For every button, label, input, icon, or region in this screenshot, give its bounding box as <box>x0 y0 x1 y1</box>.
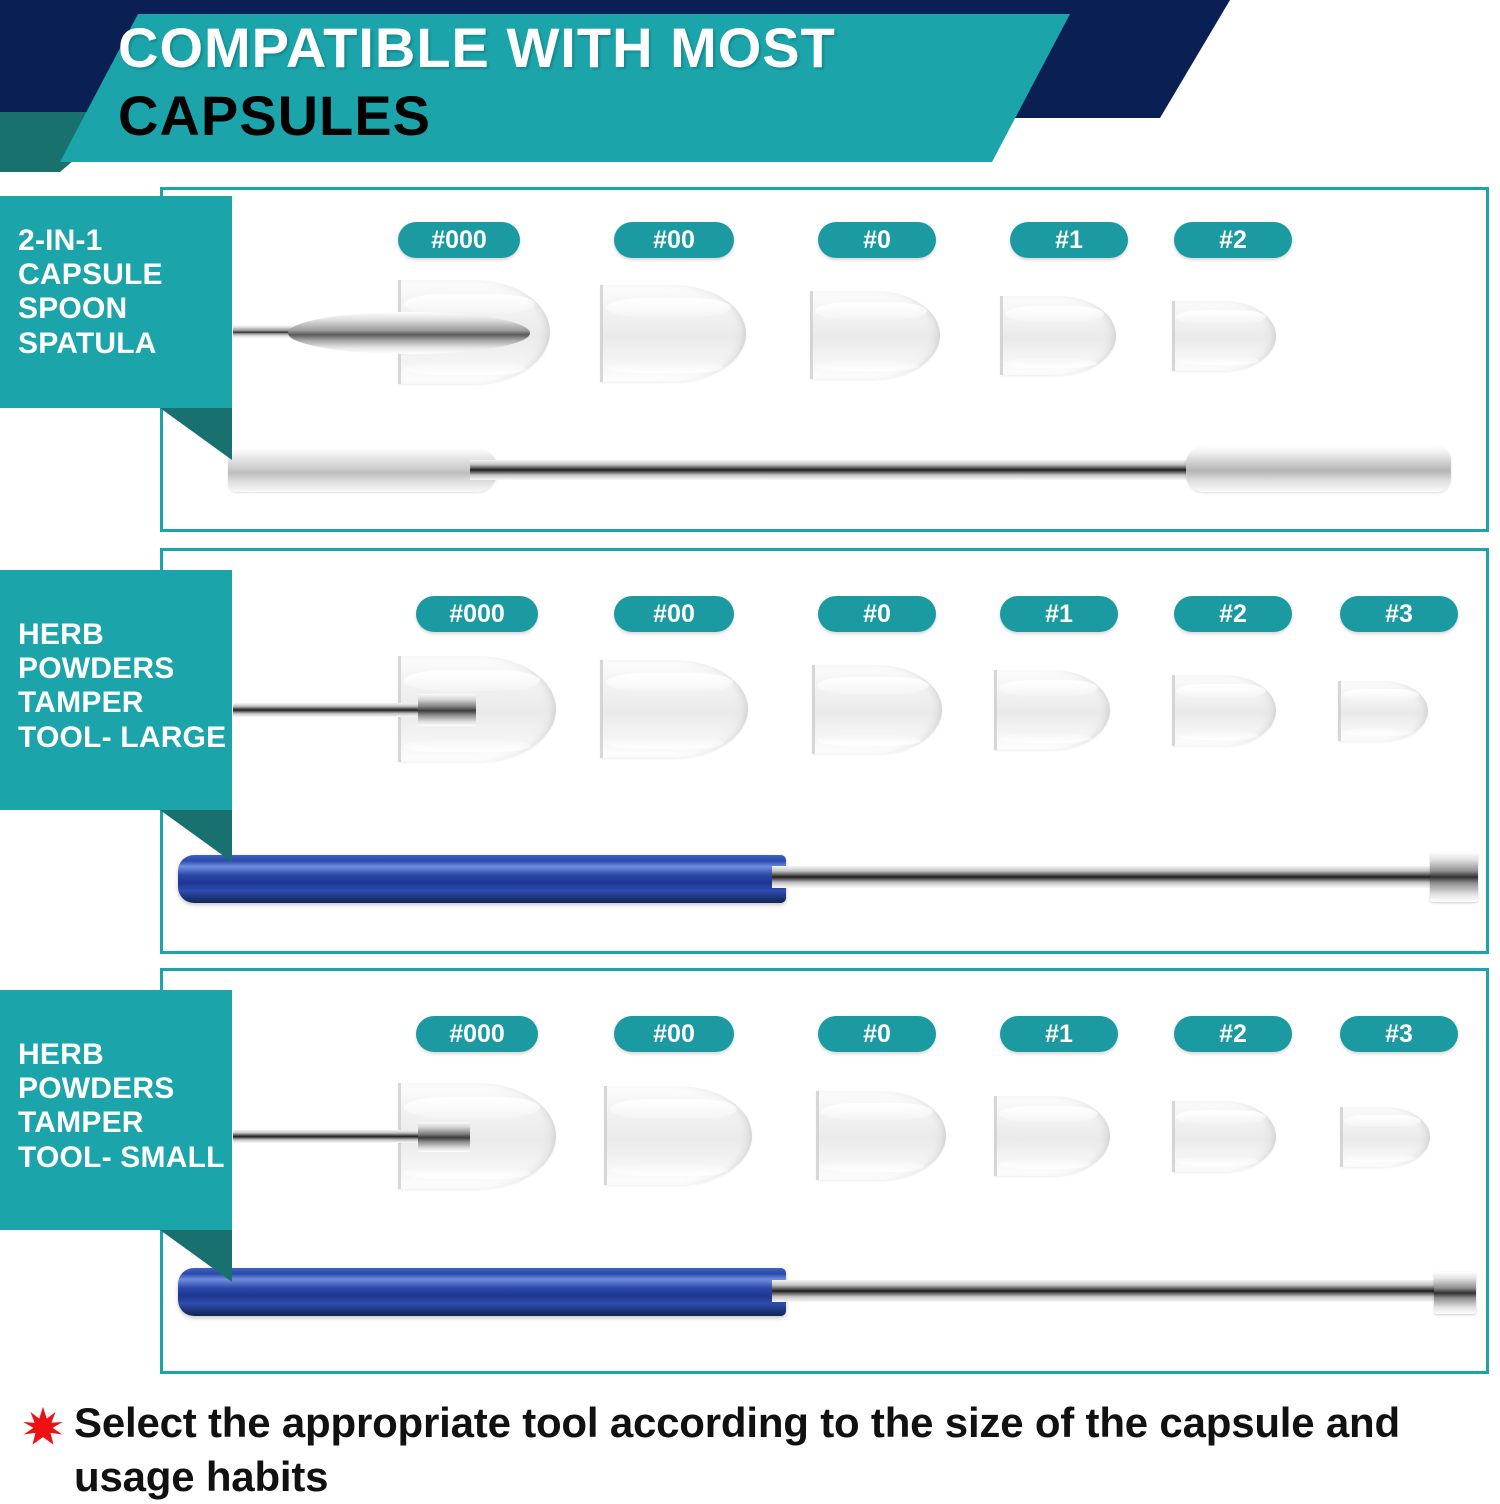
capsule-1-row2 <box>994 670 1110 750</box>
size-pill-3-row3[interactable]: #3 <box>1340 1016 1458 1052</box>
size-pill-label: #3 <box>1385 1020 1413 1049</box>
capsule-open-edge <box>600 285 603 382</box>
size-pill-000-row3[interactable]: #000 <box>416 1016 538 1052</box>
tamper-large-handle <box>178 855 786 903</box>
header-title-line1: COMPATIBLE WITH MOST <box>118 20 836 76</box>
capsule-1-row1 <box>1000 296 1116 375</box>
size-pill-label: #000 <box>431 226 487 255</box>
capsule-00-row2 <box>600 660 748 758</box>
panel-label-spatula: 2-IN-1 CAPSULE SPOON SPATULA <box>0 196 232 408</box>
capsule-0-row2 <box>812 665 942 754</box>
size-pill-00-row2[interactable]: #00 <box>614 596 734 632</box>
tamper-large-probe-shaft <box>233 703 423 717</box>
spatula-scoop-cup <box>1186 446 1451 492</box>
size-pill-label: #3 <box>1385 600 1413 629</box>
panel-label-text: 2-IN-1 CAPSULE SPOON SPATULA <box>18 224 163 361</box>
size-pill-3-row2[interactable]: #3 <box>1340 596 1458 632</box>
header-banner: COMPATIBLE WITH MOST CAPSULES <box>0 0 1500 175</box>
size-pill-label: #2 <box>1219 1020 1247 1049</box>
size-pill-2-row3[interactable]: #2 <box>1174 1016 1292 1052</box>
tamper-small-head-disc <box>1434 1272 1476 1314</box>
capsule-00-row1 <box>600 285 746 382</box>
tamper-small-shaft <box>772 1280 1440 1302</box>
capsule-0-row3 <box>816 1091 946 1180</box>
tamper-large-shaft <box>772 866 1440 888</box>
capsule-open-edge <box>604 1086 607 1185</box>
panel-label-tamper-large: HERB POWDERS TAMPER TOOL- LARGE <box>0 570 232 810</box>
size-pill-label: #1 <box>1055 226 1083 255</box>
tamper-small-probe-head <box>418 1122 470 1152</box>
red-starburst-icon <box>22 1406 64 1448</box>
size-pill-label: #000 <box>449 600 505 629</box>
size-pill-label: #0 <box>863 600 891 629</box>
size-pill-label: #000 <box>449 1020 505 1049</box>
capsule-2-row3 <box>1172 1101 1276 1172</box>
size-pill-00-row1[interactable]: #00 <box>614 222 734 258</box>
size-pill-label: #00 <box>653 600 695 629</box>
tamper-large-head-disc <box>1430 852 1478 902</box>
tamper-small-handle <box>178 1268 786 1316</box>
capsule-open-edge <box>1338 681 1341 741</box>
size-pill-1-row2[interactable]: #1 <box>1000 596 1118 632</box>
size-pill-label: #2 <box>1219 600 1247 629</box>
capsule-2-row2 <box>1172 675 1276 746</box>
size-pill-1-row3[interactable]: #1 <box>1000 1016 1118 1052</box>
capsule-open-edge <box>812 665 815 754</box>
size-pill-1-row1[interactable]: #1 <box>1010 222 1128 258</box>
capsule-open-edge <box>600 660 603 758</box>
spatula-shaft <box>470 460 1220 480</box>
size-pill-00-row3[interactable]: #00 <box>614 1016 734 1052</box>
capsule-open-edge <box>994 1096 997 1176</box>
capsule-3-row2 <box>1338 681 1428 741</box>
size-pill-2-row1[interactable]: #2 <box>1174 222 1292 258</box>
capsule-open-edge <box>1172 301 1175 371</box>
size-pill-000-row2[interactable]: #000 <box>416 596 538 632</box>
size-pill-label: #1 <box>1045 1020 1073 1049</box>
spatula-flat-paddle <box>228 448 498 492</box>
capsule-open-edge <box>1340 1107 1343 1167</box>
size-pill-0-row1[interactable]: #0 <box>818 222 936 258</box>
capsule-open-edge <box>1172 675 1175 746</box>
panel-label-text: HERB POWDERS TAMPER TOOL- LARGE <box>18 618 226 755</box>
size-pill-label: #00 <box>653 1020 695 1049</box>
capsule-00-row3 <box>604 1086 752 1185</box>
capsule-open-edge <box>1000 296 1003 375</box>
size-pill-label: #0 <box>863 1020 891 1049</box>
capsule-0-row1 <box>810 291 940 379</box>
tamper-small-probe-shaft <box>233 1130 423 1143</box>
size-pill-label: #00 <box>653 226 695 255</box>
capsule-open-edge <box>816 1091 819 1180</box>
capsule-3-row3 <box>1340 1107 1430 1167</box>
size-pill-label: #2 <box>1219 226 1247 255</box>
capsule-open-edge <box>1172 1101 1175 1172</box>
size-pill-2-row2[interactable]: #2 <box>1174 596 1292 632</box>
capsule-1-row3 <box>994 1096 1110 1176</box>
capsule-open-edge <box>810 291 813 379</box>
size-pill-0-row2[interactable]: #0 <box>818 596 936 632</box>
spatula-probe-tip <box>288 312 530 354</box>
size-pill-0-row3[interactable]: #0 <box>818 1016 936 1052</box>
infographic-root: COMPATIBLE WITH MOST CAPSULES 2-IN-1 CAP… <box>0 0 1500 1500</box>
capsule-2-row1 <box>1172 301 1276 371</box>
panel-label-tamper-small: HERB POWDERS TAMPER TOOL- SMALL <box>0 990 232 1230</box>
header-title-line2: CAPSULES <box>118 88 431 144</box>
size-pill-label: #0 <box>863 226 891 255</box>
size-pill-label: #1 <box>1045 600 1073 629</box>
footnote-text: Select the appropriate tool according to… <box>74 1396 1494 1504</box>
tamper-large-probe-head <box>418 694 476 726</box>
panel-label-text: HERB POWDERS TAMPER TOOL- SMALL <box>18 1038 225 1175</box>
size-pill-000-row1[interactable]: #000 <box>398 222 520 258</box>
capsule-open-edge <box>994 670 997 750</box>
